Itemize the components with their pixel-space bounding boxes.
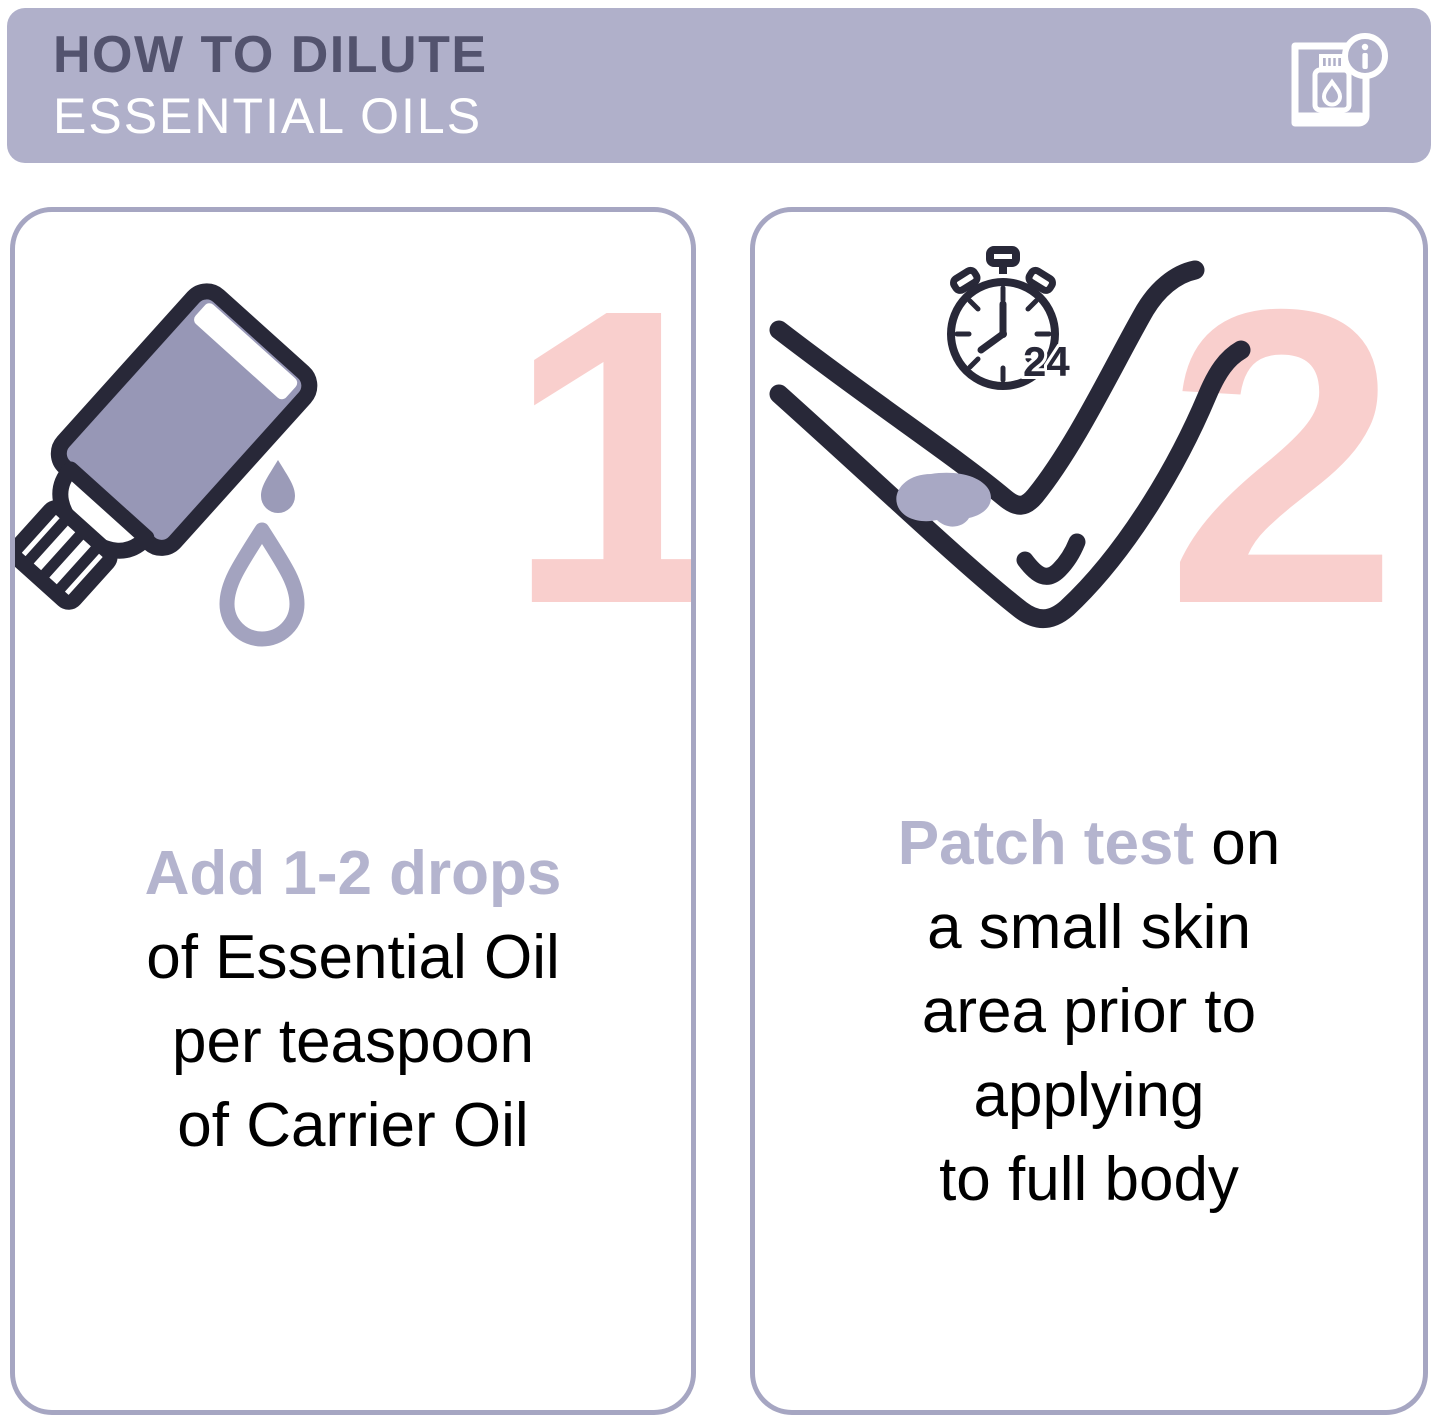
rest-text: on — [1194, 809, 1280, 878]
text-line: Add 1-2 drops — [29, 832, 677, 916]
step-card-1: 1 Add 1-2 drops — [10, 207, 696, 1415]
header-titles: HOW TO DILUTE ESSENTIAL OILS — [53, 24, 488, 146]
text-line: applying — [769, 1054, 1409, 1138]
page-subtitle: ESSENTIAL OILS — [53, 86, 488, 146]
text-line: of Carrier Oil — [29, 1084, 677, 1168]
emphasis-text: Patch test — [898, 809, 1194, 878]
text-line: area prior to — [769, 970, 1409, 1054]
page-title: HOW TO DILUTE — [53, 24, 488, 86]
step-card-2: 2 — [750, 207, 1428, 1415]
arm-patch-test-stopwatch-icon: 24 — [755, 212, 1423, 692]
book-with-oil-bottle-info-icon — [1281, 30, 1391, 140]
emphasis-text: Add 1-2 drops — [145, 839, 562, 908]
step-card-2-text: Patch test on a small skin area prior to… — [755, 802, 1423, 1222]
oil-bottle-dropping-icon — [15, 212, 691, 692]
text-line: of Essential Oil — [29, 916, 677, 1000]
text-line: per teaspoon — [29, 1000, 677, 1084]
stopwatch-hours-label: 24 — [1023, 338, 1070, 385]
text-line: a small skin — [769, 886, 1409, 970]
text-line: Patch test on — [769, 802, 1409, 886]
step-card-1-text: Add 1-2 drops of Essential Oil per teasp… — [15, 832, 691, 1168]
text-line: to full body — [769, 1138, 1409, 1222]
header-bar: HOW TO DILUTE ESSENTIAL OILS — [7, 8, 1431, 163]
